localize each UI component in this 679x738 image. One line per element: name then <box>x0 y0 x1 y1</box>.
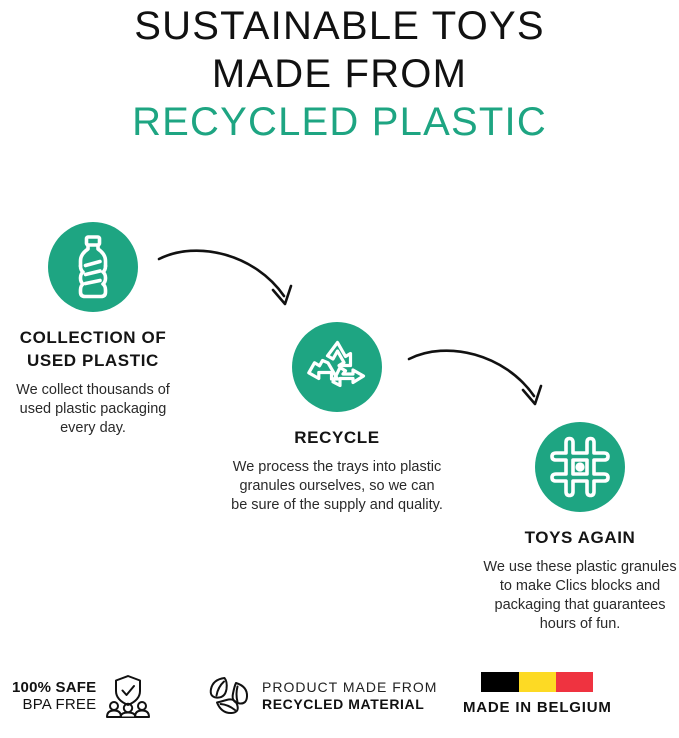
step-2-icon-circle <box>292 322 382 412</box>
footer-badges: 100% SAFE BPA FREE <box>0 660 679 738</box>
recycled-leaves-icon <box>205 674 253 718</box>
step-1-heading: COLLECTION OF USED PLASTIC <box>0 326 186 372</box>
toy-block-center-dot <box>575 462 584 471</box>
badge-recycled-material-text: PRODUCT MADE FROM RECYCLED MATERIAL <box>262 679 437 713</box>
toy-block-icon <box>549 436 611 498</box>
curved-arrow-step1-to-step2 <box>155 232 310 322</box>
step-2-heading: RECYCLE <box>231 426 443 449</box>
badge-recycled-line2: RECYCLED MATERIAL <box>262 696 437 713</box>
title-line-3: RECYCLED PLASTIC <box>0 98 679 146</box>
step-3-icon-circle <box>535 422 625 512</box>
recycle-arrows-icon <box>307 338 367 396</box>
flag-stripe-black <box>481 672 518 692</box>
page-title: SUSTAINABLE TOYS MADE FROM RECYCLED PLAS… <box>0 0 679 146</box>
belgium-flag-icon <box>481 672 593 692</box>
step-3-description: We use these plastic granules to make Cl… <box>481 558 679 634</box>
badge-bpa-free-line2: BPA FREE <box>12 696 96 713</box>
badge-bpa-free: 100% SAFE BPA FREE <box>12 674 151 718</box>
badge-recycled-material: PRODUCT MADE FROM RECYCLED MATERIAL <box>205 674 437 718</box>
curved-arrow-step2-to-step3 <box>405 332 560 422</box>
title-line-2: MADE FROM <box>0 50 679 98</box>
badge-recycled-line1: PRODUCT MADE FROM <box>262 679 437 696</box>
badge-bpa-free-line1: 100% SAFE <box>12 679 96 696</box>
badge-made-in-belgium: MADE IN BELGIUM <box>463 672 612 716</box>
flag-stripe-red <box>556 672 593 692</box>
badge-bpa-free-text: 100% SAFE BPA FREE <box>12 679 96 713</box>
flag-stripe-yellow <box>519 672 556 692</box>
badge-belgium-label: MADE IN BELGIUM <box>463 699 612 716</box>
plastic-bottle-icon <box>65 234 121 300</box>
title-line-1: SUSTAINABLE TOYS <box>0 2 679 50</box>
step-3-heading: TOYS AGAIN <box>481 526 679 549</box>
step-1-description: We collect thousands of used plastic pac… <box>0 381 186 438</box>
step-2-description: We process the trays into plastic granul… <box>231 458 443 515</box>
step-toys-again: TOYS AGAIN We use these plastic granules… <box>481 422 679 634</box>
shield-check-people-icon <box>105 674 151 718</box>
step-1-icon-circle <box>48 222 138 312</box>
infographic-page: SUSTAINABLE TOYS MADE FROM RECYCLED PLAS… <box>0 0 679 738</box>
